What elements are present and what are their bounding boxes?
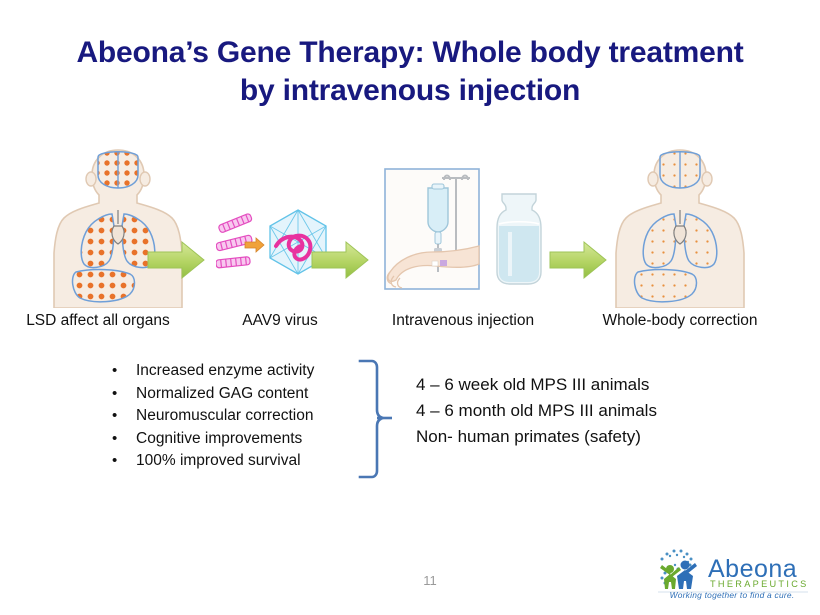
logo-tagline: Working together to find a cure.: [648, 590, 816, 600]
list-item: • 100% improved survival: [112, 450, 362, 473]
corrected-body-icon: [614, 148, 746, 308]
iv-drip-icon: [384, 168, 544, 308]
bullet-icon: •: [112, 428, 136, 451]
slide-canvas: Abeona’s Gene Therapy: Whole body treatm…: [0, 0, 820, 615]
list-item: • Cognitive improvements: [112, 428, 362, 451]
list-item: • Normalized GAG content: [112, 383, 362, 406]
bullet-icon: •: [112, 360, 136, 383]
stage-lsd-body: [52, 148, 184, 308]
model-item: 4 – 6 month old MPS III animals: [416, 398, 716, 424]
list-item-label: 100% improved survival: [136, 450, 301, 473]
diseased-body-icon: [52, 148, 184, 308]
model-item: 4 – 6 week old MPS III animals: [416, 372, 716, 398]
page-title: Abeona’s Gene Therapy: Whole body treatm…: [40, 34, 780, 110]
caption-iv-injection: Intravenous injection: [378, 312, 548, 330]
list-item: • Neuromuscular correction: [112, 405, 362, 428]
list-item-label: Cognitive improvements: [136, 428, 302, 451]
list-item-label: Increased enzyme activity: [136, 360, 314, 383]
model-item: Non- human primates (safety): [416, 424, 716, 450]
caption-lsd-body: LSD affect all organs: [8, 312, 188, 330]
bullet-icon: •: [112, 383, 136, 406]
bullet-icon: •: [112, 450, 136, 473]
caption-aav9: AAV9 virus: [215, 312, 345, 330]
stage-iv-injection: [384, 168, 544, 308]
arrow-right-icon-3: [548, 238, 608, 282]
svg-text:THERAPEUTICS: THERAPEUTICS: [710, 579, 809, 589]
list-item: • Increased enzyme activity: [112, 360, 362, 383]
list-item-label: Normalized GAG content: [136, 383, 308, 406]
bullet-icon: •: [112, 405, 136, 428]
abeona-logo: Abeona THERAPEUTICS Working together to …: [648, 543, 816, 607]
stage-corrected-body: [614, 148, 746, 308]
animal-models-list: 4 – 6 week old MPS III animals 4 – 6 mon…: [416, 372, 716, 450]
right-curly-brace-icon: [356, 358, 396, 480]
arrow-right-icon-2: [310, 238, 370, 282]
outcomes-list: • Increased enzyme activity • Normalized…: [112, 360, 362, 473]
page-number: 11: [400, 573, 460, 588]
arrow-right-icon-1: [146, 238, 206, 282]
list-item-label: Neuromuscular correction: [136, 405, 313, 428]
caption-corrected-body: Whole-body correction: [570, 312, 790, 330]
